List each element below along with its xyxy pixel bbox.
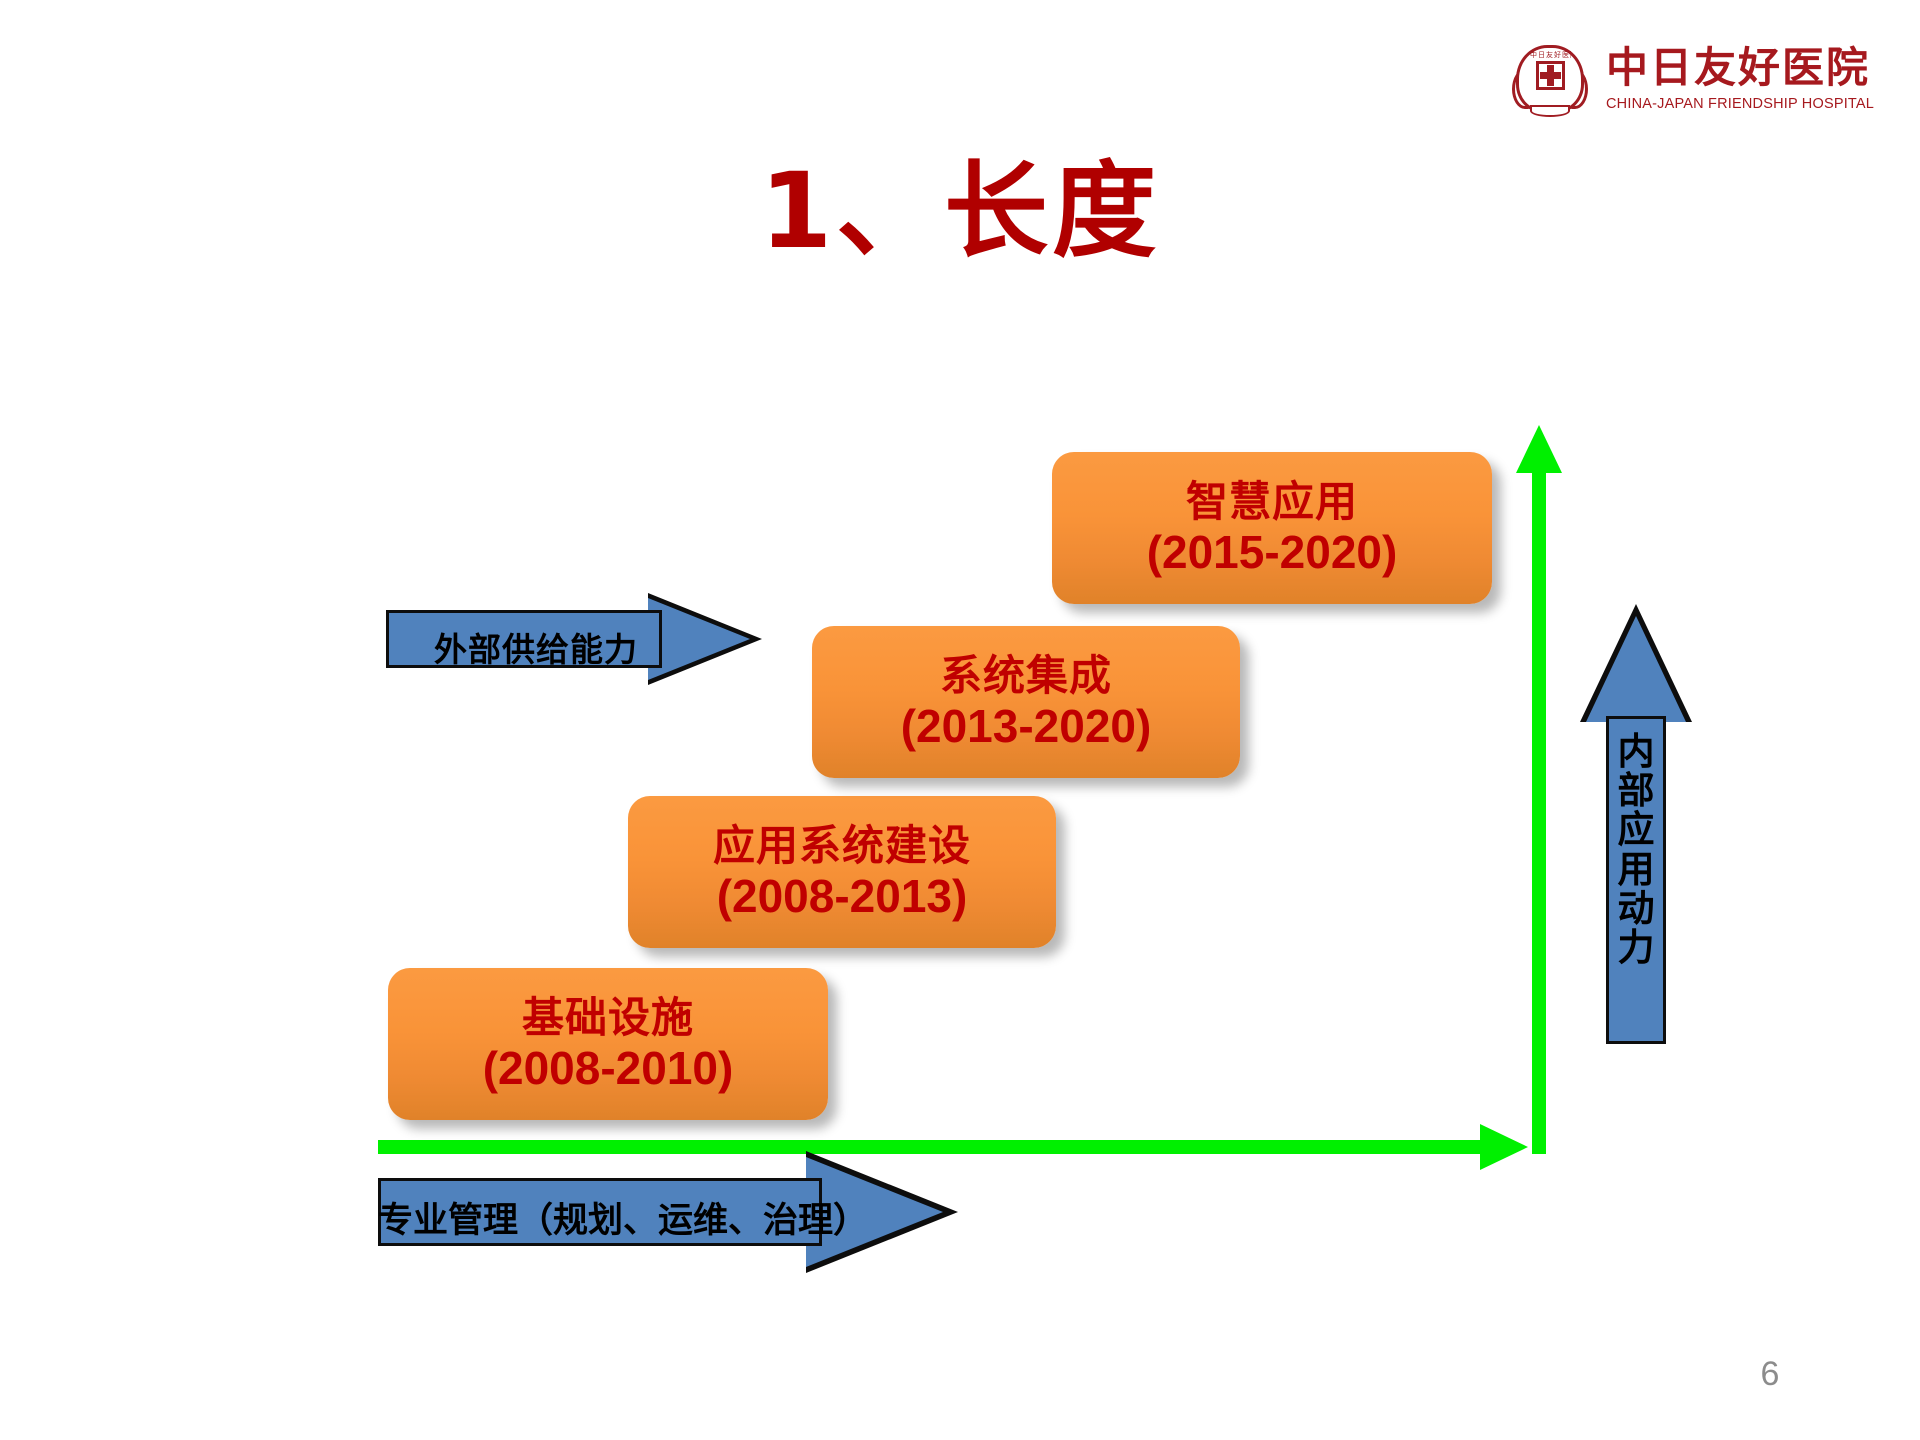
hospital-name-en: CHINA-JAPAN FRIENDSHIP HOSPITAL bbox=[1606, 96, 1874, 112]
emblem-base-ornament bbox=[1530, 105, 1570, 117]
stage-box-application-system-construction[interactable]: 应用系统建设 (2008-2013) bbox=[628, 796, 1056, 948]
emblem-cross-horizontal bbox=[1540, 72, 1561, 79]
arrow-head-fill bbox=[648, 598, 750, 680]
arrow-label: 专业管理（规划、运维、治理） bbox=[378, 1192, 868, 1243]
page-title: 1、长度 bbox=[0, 152, 1920, 272]
arrow-internal-application-motivation[interactable]: 内部应用动力 bbox=[1580, 604, 1692, 1044]
stage-box-system-integration[interactable]: 系统集成 (2013-2020) bbox=[812, 626, 1240, 778]
arrow-professional-management[interactable]: 专业管理（规划、运维、治理） bbox=[378, 1152, 1018, 1268]
stage-box-smart-application[interactable]: 智慧应用 (2015-2020) bbox=[1052, 452, 1492, 604]
arrow-label: 外部供给能力 bbox=[434, 623, 638, 671]
emblem-micro-text: 中日友好医院 bbox=[1530, 51, 1571, 60]
hospital-emblem-icon: 中日友好医院 bbox=[1510, 39, 1590, 119]
hospital-logo-text: 中日友好医院 CHINA-JAPAN FRIENDSHIP HOSPITAL bbox=[1606, 47, 1874, 112]
stage-years: (2008-2013) bbox=[717, 871, 968, 923]
y-axis-arrowhead-icon bbox=[1516, 425, 1562, 473]
stage-years: (2015-2020) bbox=[1147, 527, 1398, 579]
arrow-external-supply-capability[interactable]: 外部供给能力 bbox=[386, 594, 806, 684]
stage-years: (2013-2020) bbox=[901, 701, 1152, 753]
stage-name: 应用系统建设 bbox=[713, 822, 971, 869]
slide-canvas: 中日友好医院 中日友好医院 CHINA-JAPAN FRIENDSHIP HOS… bbox=[0, 0, 1920, 1440]
hospital-logo: 中日友好医院 中日友好医院 CHINA-JAPAN FRIENDSHIP HOS… bbox=[1510, 34, 1880, 124]
hospital-name-cn: 中日友好医院 bbox=[1606, 47, 1874, 89]
stage-name: 系统集成 bbox=[940, 652, 1112, 699]
x-axis-arrowhead-icon bbox=[1480, 1124, 1528, 1170]
y-axis-line bbox=[1532, 468, 1546, 1154]
stage-years: (2008-2010) bbox=[483, 1043, 734, 1095]
arrow-label: 内部应用动力 bbox=[1612, 732, 1660, 967]
stage-name: 基础设施 bbox=[522, 994, 694, 1041]
stage-box-infrastructure[interactable]: 基础设施 (2008-2010) bbox=[388, 968, 828, 1120]
stage-name: 智慧应用 bbox=[1186, 478, 1358, 525]
arrow-head-fill bbox=[1586, 616, 1686, 722]
page-number: 6 bbox=[1740, 1355, 1800, 1394]
